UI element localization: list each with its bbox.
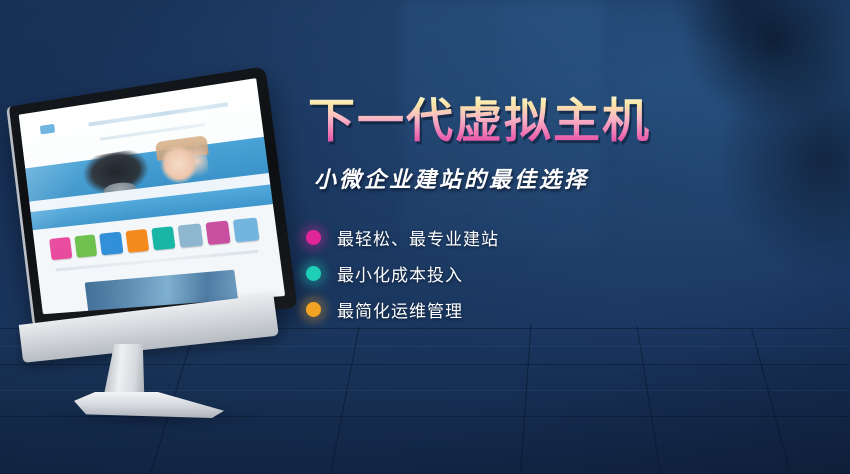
bullet-dot-teal bbox=[306, 266, 321, 281]
website-app-icon bbox=[99, 231, 123, 255]
website-app-icon bbox=[151, 226, 176, 251]
list-item: 最简化运维管理 bbox=[306, 292, 720, 328]
website-app-icon bbox=[49, 237, 72, 261]
website-app-icon bbox=[233, 217, 259, 242]
page-title: 下一代虚拟主机 bbox=[308, 96, 720, 148]
feature-label: 最小化成本投入 bbox=[337, 261, 463, 286]
monitor-bezel bbox=[6, 66, 297, 326]
bullet-dot-magenta bbox=[306, 230, 321, 245]
page-subtitle: 小微企业建站的最佳选择 bbox=[314, 162, 720, 194]
feature-label: 最轻松、最专业建站 bbox=[337, 225, 499, 250]
promo-text-block: 下一代虚拟主机 小微企业建站的最佳选择 最轻松、最专业建站 最小化成本投入 最简… bbox=[300, 96, 720, 328]
feature-list: 最轻松、最专业建站 最小化成本投入 最简化运维管理 bbox=[306, 220, 720, 328]
website-app-icon bbox=[74, 234, 97, 258]
promo-banner: 下一代虚拟主机 小微企业建站的最佳选择 最轻松、最专业建站 最小化成本投入 最简… bbox=[0, 0, 850, 474]
website-app-icon bbox=[125, 228, 149, 252]
bullet-dot-orange bbox=[306, 302, 321, 317]
feature-label: 最简化运维管理 bbox=[337, 297, 463, 322]
list-item: 最轻松、最专业建站 bbox=[306, 220, 720, 256]
website-app-icon bbox=[205, 220, 231, 245]
desktop-monitor bbox=[8, 86, 290, 386]
monitor-screen bbox=[19, 78, 286, 314]
list-item: 最小化成本投入 bbox=[306, 256, 720, 292]
website-app-icon bbox=[178, 223, 203, 248]
